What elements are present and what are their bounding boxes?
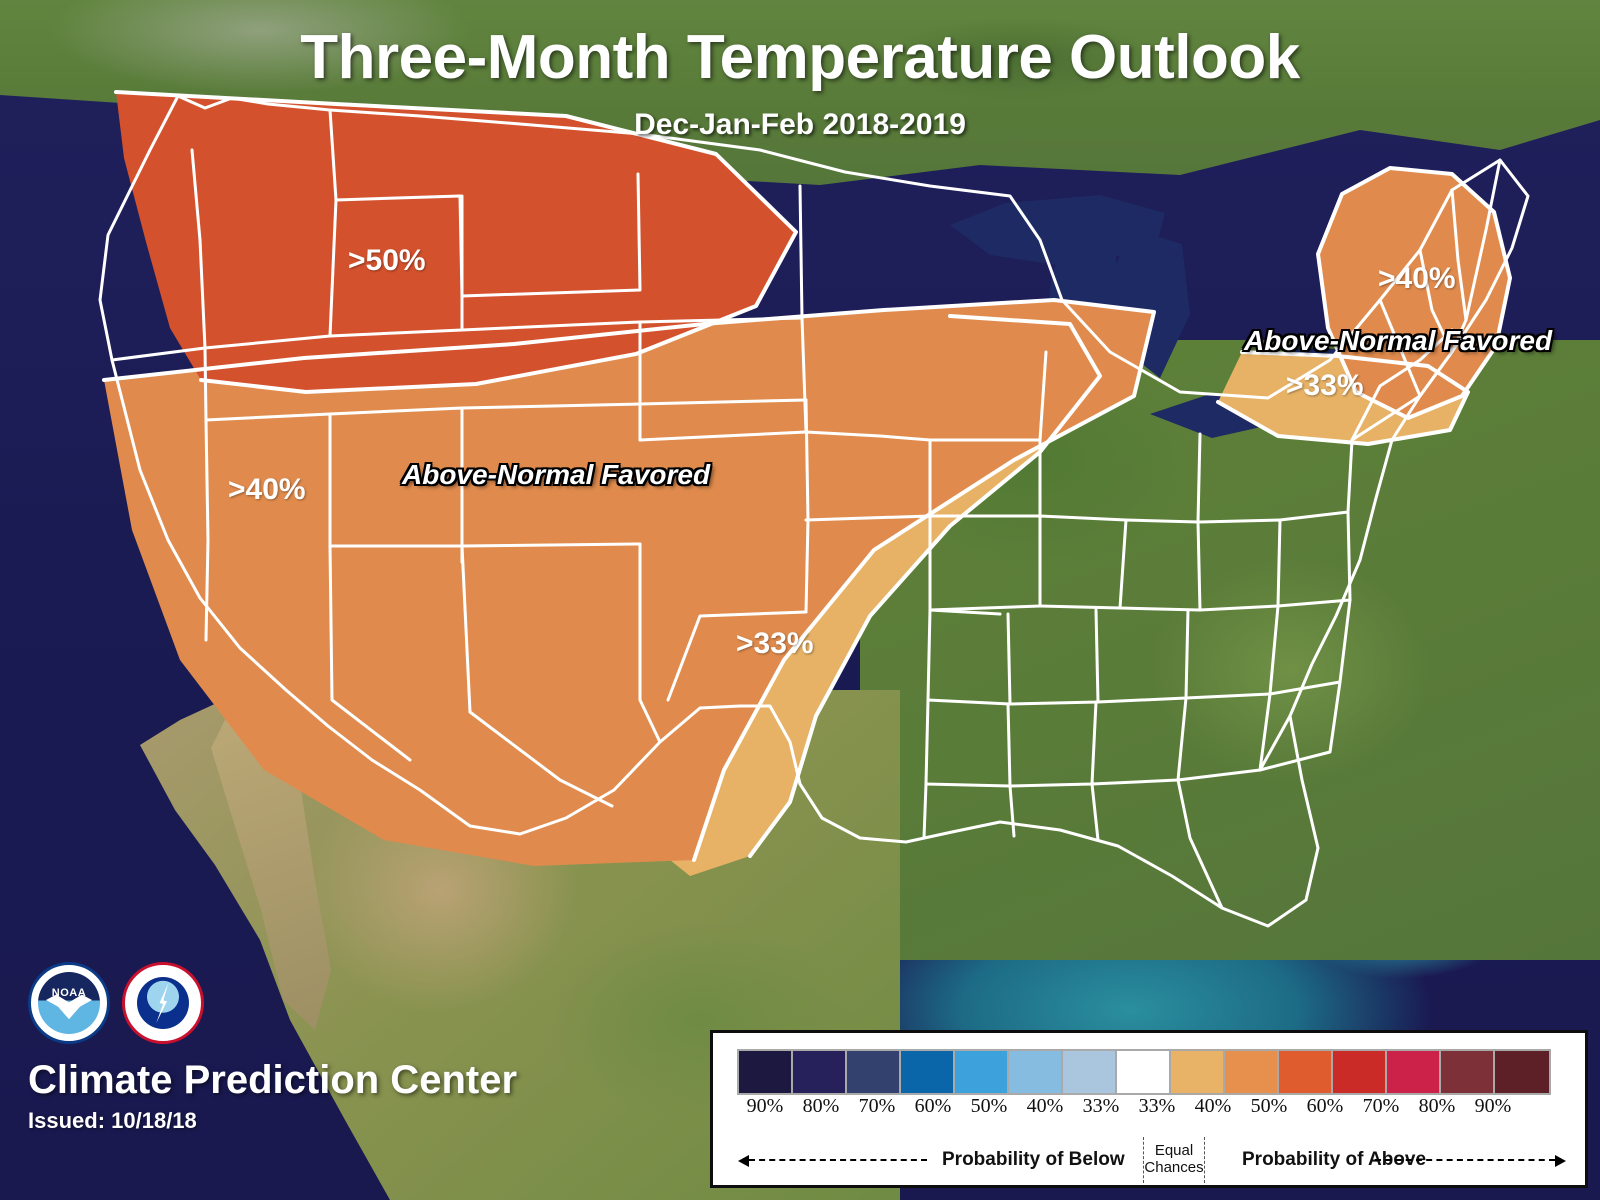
legend-tick-2: 70%	[849, 1095, 905, 1118]
page-title: Three-Month Temperature Outlook	[0, 22, 1600, 93]
legend-tick-5: 40%	[1017, 1095, 1073, 1118]
legend-tick-13: 90%	[1465, 1095, 1521, 1118]
legend-swatch-13	[1441, 1051, 1495, 1093]
legend-equal-chances: Equal Chances	[1143, 1137, 1205, 1183]
label-west-40: >40%	[228, 473, 306, 507]
label-northeast-33: >33%	[1286, 369, 1364, 403]
legend-footer: Probability of Below Equal Chances Proba…	[737, 1137, 1565, 1183]
agency-logos: NOAA	[28, 962, 204, 1044]
page-subtitle: Dec-Jan-Feb 2018-2019	[0, 108, 1600, 142]
legend-swatch-0	[739, 1051, 793, 1093]
legend-tick-0: 90%	[737, 1095, 793, 1118]
legend-swatch-6	[1063, 1051, 1117, 1093]
legend-swatch-10	[1279, 1051, 1333, 1093]
legend-tick-11: 70%	[1353, 1095, 1409, 1118]
national-weather-service-logo	[122, 962, 204, 1044]
label-south-33: >33%	[736, 627, 814, 661]
legend-swatch-14	[1495, 1051, 1549, 1093]
legend-swatch-11	[1333, 1051, 1387, 1093]
legend-swatch-7	[1117, 1051, 1171, 1093]
legend: 90%80%70%60%50%40%33%33%40%50%60%70%80%9…	[710, 1030, 1588, 1188]
label-central-above-normal-favored: Above-Normal Favored	[402, 459, 710, 491]
legend-tick-12: 80%	[1409, 1095, 1465, 1118]
noaa-wordmark: NOAA	[31, 987, 107, 999]
lightning-bolt-icon	[153, 981, 173, 1025]
legend-tick-3: 60%	[905, 1095, 961, 1118]
center-name: Climate Prediction Center	[28, 1058, 517, 1103]
legend-swatch-9	[1225, 1051, 1279, 1093]
equal-chances-line1: Equal	[1144, 1142, 1204, 1159]
noaa-logo: NOAA	[28, 962, 110, 1044]
label-northwest-50: >50%	[348, 244, 426, 278]
legend-tick-labels: 90%80%70%60%50%40%33%33%40%50%60%70%80%9…	[737, 1095, 1521, 1118]
issued-date: Issued: 10/18/18	[28, 1108, 197, 1134]
legend-color-scale	[737, 1049, 1551, 1095]
legend-swatch-12	[1387, 1051, 1441, 1093]
legend-swatch-2	[847, 1051, 901, 1093]
legend-swatch-3	[901, 1051, 955, 1093]
legend-swatch-4	[955, 1051, 1009, 1093]
legend-swatch-1	[793, 1051, 847, 1093]
legend-tick-10: 60%	[1297, 1095, 1353, 1118]
outlook-map-figure: Three-Month Temperature Outlook Dec-Jan-…	[0, 0, 1600, 1200]
label-northeast-above-normal-favored: Above-Normal Favored	[1244, 325, 1552, 357]
legend-tick-8: 40%	[1185, 1095, 1241, 1118]
legend-tick-1: 80%	[793, 1095, 849, 1118]
equal-chances-line2: Chances	[1144, 1159, 1204, 1176]
legend-swatch-5	[1009, 1051, 1063, 1093]
legend-below-label: Probability of Below	[942, 1149, 1125, 1171]
label-northeast-40: >40%	[1378, 262, 1456, 296]
legend-tick-9: 50%	[1241, 1095, 1297, 1118]
legend-tick-6: 33%	[1073, 1095, 1129, 1118]
above-arrow-icon	[1375, 1159, 1555, 1161]
below-arrow-icon	[749, 1159, 927, 1161]
legend-tick-7: 33%	[1129, 1095, 1185, 1118]
legend-swatch-8	[1171, 1051, 1225, 1093]
legend-tick-4: 50%	[961, 1095, 1017, 1118]
